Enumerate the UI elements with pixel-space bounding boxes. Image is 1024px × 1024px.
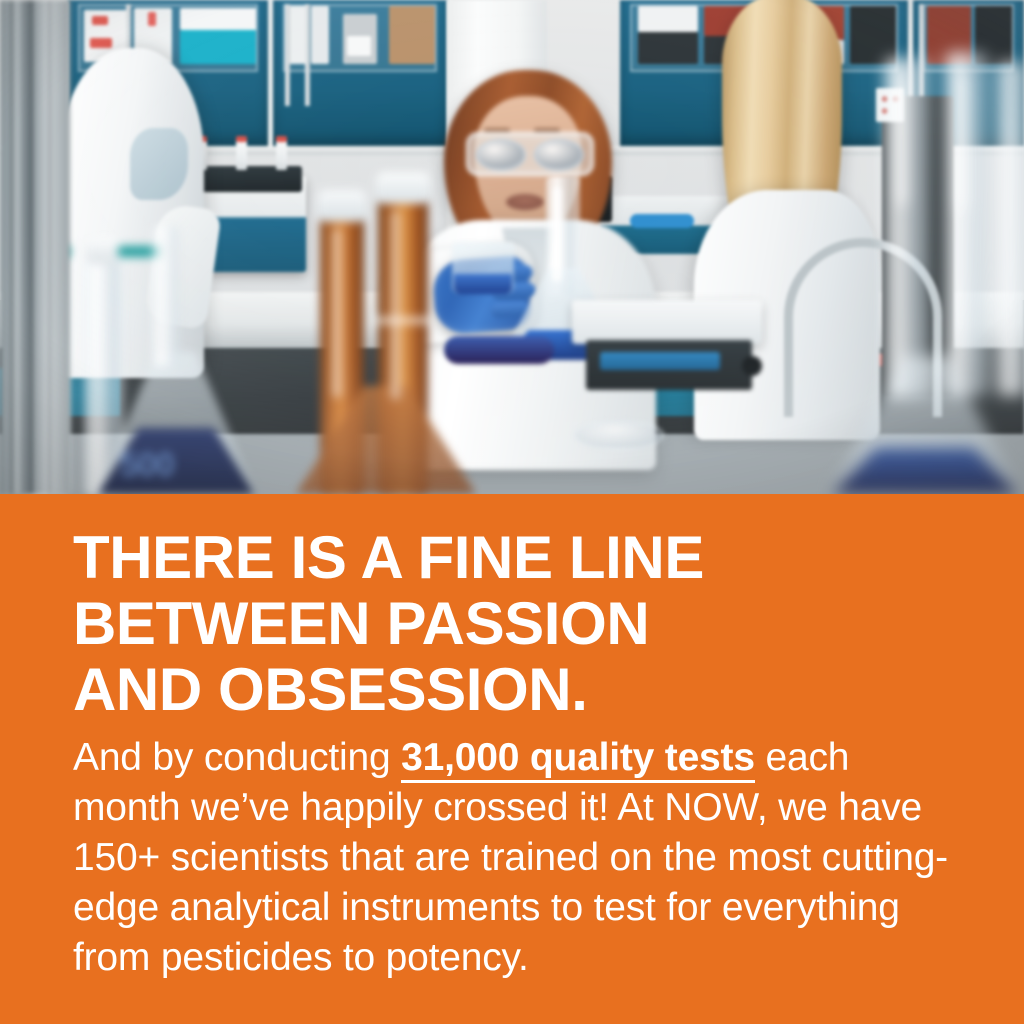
goggle-lens <box>476 139 526 171</box>
door-frame <box>0 0 70 494</box>
safety-goggles <box>466 132 594 176</box>
glass-highlight <box>956 70 968 210</box>
glass-highlight <box>552 186 562 282</box>
quality-tests-emphasis: 31,000 quality tests <box>401 736 755 783</box>
poster-graphic: 500 <box>0 0 1024 1024</box>
balance-blue-accent <box>600 352 720 370</box>
balance-knob <box>742 356 762 376</box>
body-text-before: And by conducting <box>73 736 401 779</box>
laboratory-photo: 500 <box>0 0 1024 494</box>
headline-line-2: BETWEEN PASSION <box>73 591 973 657</box>
graduated-cylinder <box>996 62 1024 396</box>
orange-message-panel: THERE IS A FINE LINE BETWEEN PASSION AND… <box>0 494 1024 1024</box>
frame-seam <box>48 0 51 494</box>
cylinder-cap <box>318 190 366 222</box>
cylinder-cap <box>376 172 430 204</box>
goggle-lens <box>534 139 584 171</box>
frame-seam <box>10 0 13 494</box>
flask-neck <box>152 226 178 366</box>
headline-line-1: THERE IS A FINE LINE <box>73 525 973 591</box>
analytical-balance <box>572 300 762 344</box>
flask-volume-marking: 500 <box>120 446 216 480</box>
sample-vial <box>276 140 287 170</box>
beaker-blue-liquid <box>454 274 512 294</box>
glass-highlight <box>896 76 908 206</box>
frame-seam <box>30 0 33 494</box>
coat-collar <box>130 128 188 200</box>
body-paragraph: And by conducting 31,000 quality tests e… <box>73 733 953 983</box>
scientist-mouth <box>506 194 544 210</box>
headline-line-3: AND OBSESSION. <box>73 657 973 723</box>
glass-highlight <box>390 210 401 400</box>
glass-highlight <box>332 228 342 398</box>
cylinder-cap <box>86 238 122 264</box>
graduation-band <box>378 316 428 325</box>
petri-blue-sample <box>444 336 554 364</box>
page-title: THERE IS A FINE LINE BETWEEN PASSION AND… <box>73 525 973 723</box>
watch-glass <box>574 420 664 450</box>
lab-coat-figure <box>58 48 204 378</box>
sample-vial <box>236 140 247 170</box>
